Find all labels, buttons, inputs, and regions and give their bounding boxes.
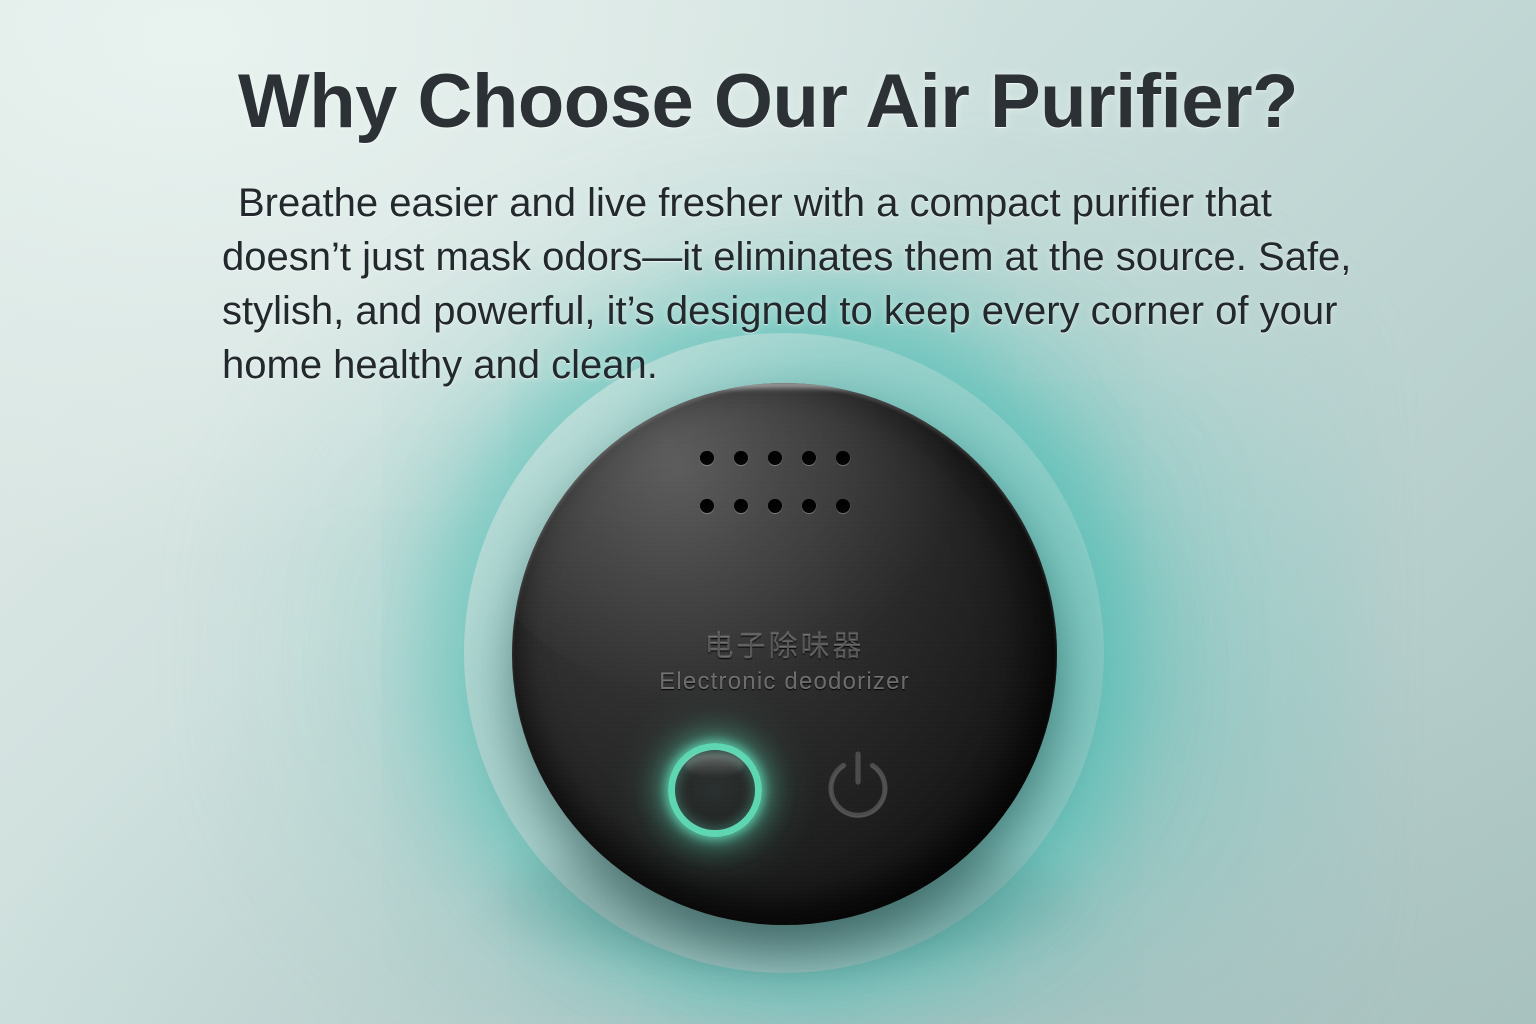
device-label-cjk: 电子除味器: [512, 629, 1057, 665]
vent-hole: [700, 499, 714, 513]
vent-hole: [734, 499, 748, 513]
status-indicator-ring[interactable]: [668, 743, 762, 837]
vent-hole: [836, 499, 850, 513]
indicator-highlight: [685, 753, 744, 777]
vent-hole: [836, 451, 850, 465]
vent-hole: [768, 451, 782, 465]
vent-row: [700, 451, 850, 465]
vent-hole: [802, 499, 816, 513]
vent-hole-grid: [700, 451, 850, 513]
vent-hole: [802, 451, 816, 465]
device-branding: 电子除味器 Electronic deodorizer: [512, 629, 1057, 699]
vent-hole: [734, 451, 748, 465]
device-label-en: Electronic deodorizer: [512, 665, 1057, 699]
vent-hole: [768, 499, 782, 513]
promo-banner: Why Choose Our Air Purifier? Breathe eas…: [0, 0, 1536, 1024]
power-icon: [818, 747, 898, 827]
power-button[interactable]: [818, 747, 898, 827]
vent-hole: [700, 451, 714, 465]
vent-row: [700, 499, 850, 513]
product-image-air-purifier: 电子除味器 Electronic deodorizer: [512, 383, 1057, 925]
